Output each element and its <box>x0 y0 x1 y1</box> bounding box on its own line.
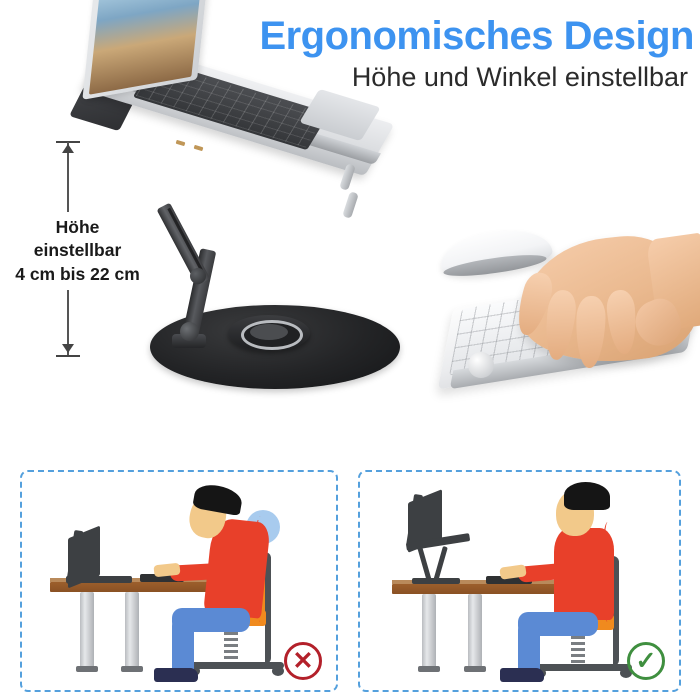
person-shoe <box>500 668 544 682</box>
chair-gas-spring <box>571 636 585 666</box>
status-badge-incorrect: ✕ <box>284 642 322 680</box>
desk-leg-foot <box>121 666 143 672</box>
laptop <box>62 0 402 242</box>
status-badge-correct: ✓ <box>627 642 665 680</box>
chair-gas-spring <box>224 632 238 664</box>
stand-support-hook <box>342 191 359 219</box>
cross-icon: ✕ <box>287 645 319 677</box>
keyboard-barrel <box>468 352 494 378</box>
stand-base <box>412 578 460 584</box>
desk-leg-foot <box>76 666 98 672</box>
desk-leg <box>468 594 482 668</box>
arm-joint-lower <box>180 322 199 341</box>
dimension-arrow-down <box>62 344 74 353</box>
person-hair <box>564 482 610 510</box>
dimension-cap-bottom <box>56 355 80 357</box>
laptop-port <box>176 140 186 146</box>
panel-bad-posture: ✕ <box>20 470 338 692</box>
person-shoe <box>154 668 198 682</box>
height-label-line2: einstellbar <box>0 239 155 262</box>
height-range-value: 4 cm bis 22 cm <box>0 263 155 286</box>
laptop-port <box>194 145 204 151</box>
laptop-base <box>66 576 132 583</box>
swivel-core <box>250 324 288 340</box>
product-infographic: Ergonomisches Design Höhe und Winkel ein… <box>0 0 700 700</box>
desk-leg-foot <box>464 666 486 672</box>
check-icon: ✓ <box>630 645 662 677</box>
arm-joint-upper <box>190 268 206 284</box>
desk-leg <box>422 594 436 668</box>
desk-leg <box>125 592 139 668</box>
stand-arm <box>417 546 432 582</box>
desk-leg <box>80 592 94 668</box>
spine-curve <box>254 516 270 622</box>
panel-good-posture: ✓ <box>358 470 681 692</box>
chair-base <box>534 664 632 671</box>
spine-curve <box>602 522 616 622</box>
desk-top <box>392 584 570 594</box>
desk-leg-foot <box>418 666 440 672</box>
stand-arm <box>433 546 448 582</box>
chair-caster <box>272 666 284 676</box>
chair-base <box>188 662 284 669</box>
